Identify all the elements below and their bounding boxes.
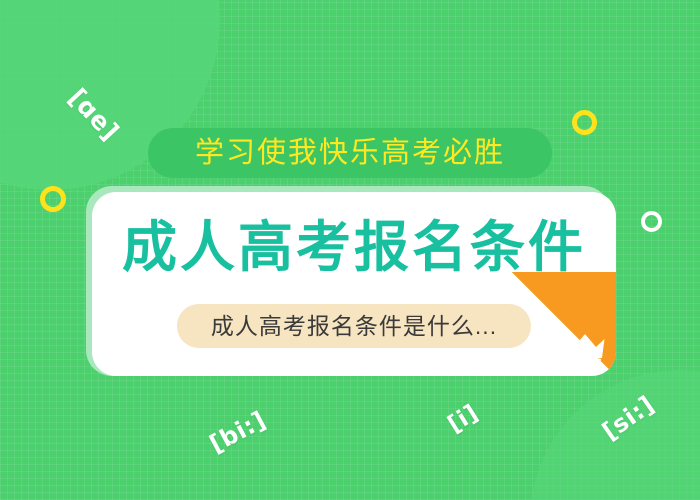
subtitle-pill: 成人高考报名条件是什么...: [177, 304, 531, 348]
phonetic-bi: [bi:]: [205, 406, 271, 459]
ring-yellow-top: [572, 110, 597, 135]
subtitle-text: 成人高考报名条件是什么...: [211, 315, 497, 338]
page-title: 成人高考报名条件: [92, 220, 616, 275]
slogan-banner: 学习使我快乐高考必胜: [148, 128, 552, 178]
main-title-card: 成人高考报名条件 成人高考报名条件是什么...: [92, 192, 616, 376]
crown-icon: [565, 332, 605, 362]
phonetic-i: [i]: [443, 400, 483, 438]
slogan-banner-text: 学习使我快乐高考必胜: [195, 139, 505, 168]
ring-white-right: [641, 211, 662, 232]
poster-canvas: [ɑe] [bi:] [i] [si:] 学习使我快乐高考必胜 成人高考报名条件…: [0, 0, 700, 500]
ring-yellow-left: [40, 186, 66, 212]
